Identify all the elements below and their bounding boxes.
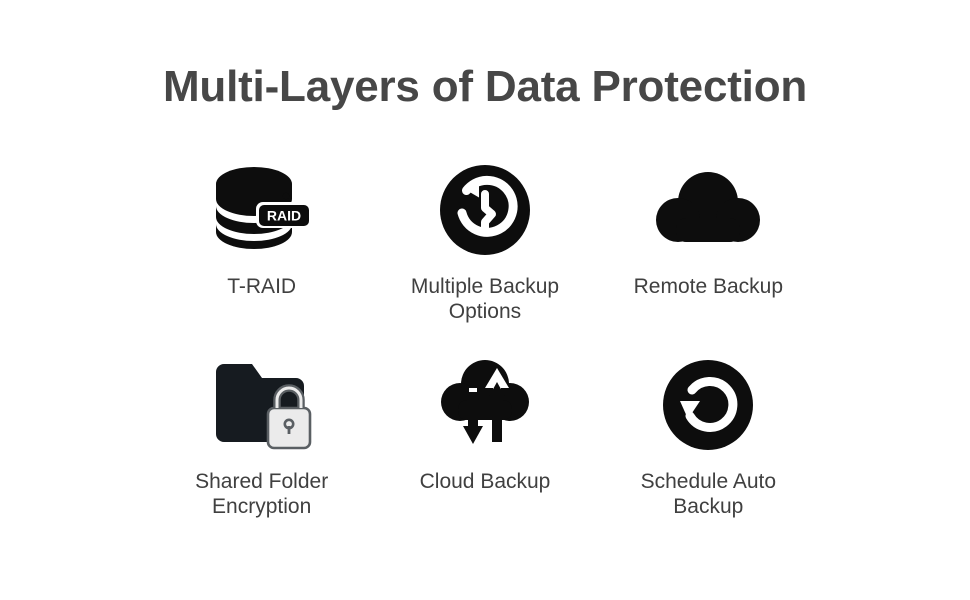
icon-container <box>207 355 317 455</box>
feature-label: T-RAID <box>227 274 296 299</box>
icon-container: RAID <box>207 160 317 260</box>
page-title: Multi-Layers of Data Protection <box>0 62 970 113</box>
restore-history-circle-icon <box>439 164 531 256</box>
cloud-icon <box>656 170 760 250</box>
icon-container <box>430 160 540 260</box>
database-raid-icon: RAID <box>210 162 314 258</box>
feature-item-t-raid[interactable]: RAID T-RAID <box>150 160 373 355</box>
feature-grid: RAID T-RAID Multiple Back <box>150 160 820 550</box>
feature-item-shared-folder-encryption[interactable]: Shared Folder Encryption <box>150 355 373 550</box>
feature-label: Remote Backup <box>634 274 783 299</box>
feature-item-remote-backup[interactable]: Remote Backup <box>597 160 820 355</box>
slide-root: Multi-Layers of Data Protection <box>0 0 970 600</box>
feature-label: Schedule Auto Backup <box>603 469 813 519</box>
icon-container <box>653 355 763 455</box>
folder-lock-icon <box>212 358 312 452</box>
feature-label: Shared Folder Encryption <box>157 469 367 519</box>
icon-container <box>653 160 763 260</box>
icon-container <box>430 355 540 455</box>
feature-label: Multiple Backup Options <box>380 274 590 324</box>
feature-item-schedule-auto-backup[interactable]: Schedule Auto Backup <box>597 355 820 550</box>
cloud-sync-arrows-icon <box>437 358 533 452</box>
raid-badge-text: RAID <box>267 208 301 224</box>
feature-label: Cloud Backup <box>420 469 551 494</box>
feature-item-cloud-backup[interactable]: Cloud Backup <box>373 355 596 550</box>
restore-circle-icon <box>662 359 754 451</box>
feature-item-multiple-backup-options[interactable]: Multiple Backup Options <box>373 160 596 355</box>
